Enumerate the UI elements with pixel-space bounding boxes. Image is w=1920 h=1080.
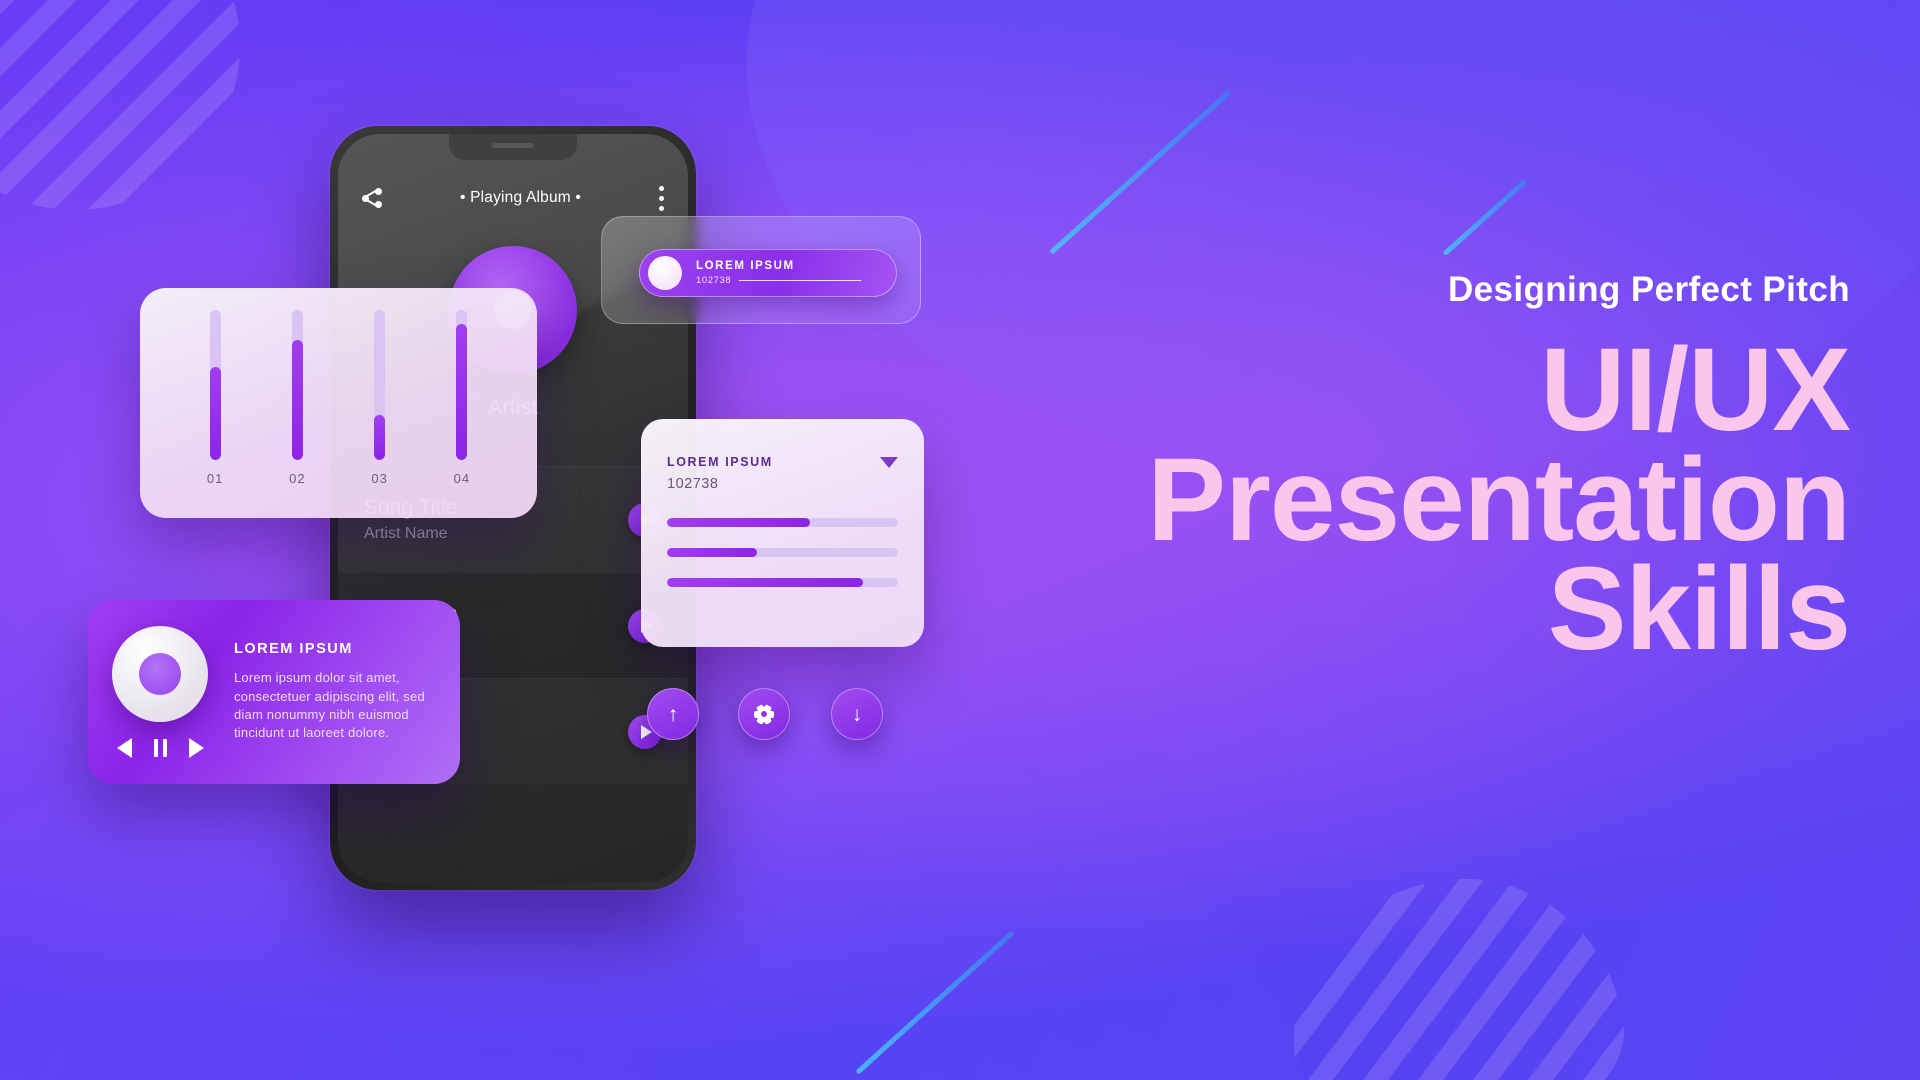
kebab-menu-icon[interactable] xyxy=(659,186,664,211)
info-card: LOREM IPSUM 102738 xyxy=(641,419,924,647)
upload-button[interactable]: ↑ xyxy=(647,688,699,740)
toggle-switch[interactable]: LOREM IPSUM 102738 xyxy=(639,249,897,297)
phone-notch xyxy=(449,134,577,160)
equalizer-channel-label: 04 xyxy=(454,471,470,486)
info-card-header: LOREM IPSUM xyxy=(667,455,898,469)
app-bar: • Playing Album • xyxy=(338,178,688,218)
headline-block: Designing Perfect Pitch UI/UX Presentati… xyxy=(950,270,1850,665)
equalizer-slider-fill xyxy=(210,367,221,460)
equalizer-slider[interactable] xyxy=(374,310,385,460)
equalizer-slider-fill xyxy=(374,415,385,460)
equalizer-channel[interactable]: 02 xyxy=(289,310,305,486)
info-card-bars xyxy=(667,518,898,587)
progress-bar[interactable] xyxy=(667,578,898,587)
equalizer-channel[interactable]: 03 xyxy=(371,310,387,486)
player-body: Lorem ipsum dolor sit amet, consectetuer… xyxy=(234,669,430,743)
toggle-text: LOREM IPSUM 102738 xyxy=(696,260,861,286)
toggle-subtitle: 102738 xyxy=(696,275,861,286)
equalizer-card: 01 02 03 04 xyxy=(140,288,537,518)
chevron-down-icon[interactable] xyxy=(880,457,898,468)
progress-bar[interactable] xyxy=(667,548,898,557)
headline-line-2: Presentation xyxy=(950,446,1850,556)
progress-bar[interactable] xyxy=(667,518,898,527)
info-card-title: LOREM IPSUM xyxy=(667,455,773,469)
equalizer-channel[interactable]: 04 xyxy=(454,310,470,486)
equalizer-slider-fill xyxy=(456,324,467,461)
settings-button[interactable] xyxy=(738,688,790,740)
arrow-down-icon: ↓ xyxy=(852,704,863,725)
song-artist: Artist Name xyxy=(364,525,457,543)
dial-knob-icon[interactable] xyxy=(112,626,208,722)
equalizer-slider[interactable] xyxy=(210,310,221,460)
headline-kicker: Designing Perfect Pitch xyxy=(950,270,1850,310)
player-text: LOREM IPSUM Lorem ipsum dolor sit amet, … xyxy=(234,641,430,743)
equalizer-channel-label: 03 xyxy=(371,471,387,486)
app-bar-title: • Playing Album • xyxy=(460,189,581,207)
transport-controls xyxy=(117,738,204,758)
toggle-number: 102738 xyxy=(696,275,731,286)
next-icon[interactable] xyxy=(189,738,204,758)
equalizer-channel-label: 02 xyxy=(289,471,305,486)
slide-canvas: • Playing Album • Artist Song Title Arti… xyxy=(0,0,1920,1080)
gear-icon xyxy=(754,704,774,724)
equalizer-slider[interactable] xyxy=(292,310,303,460)
toggle-knob-icon[interactable] xyxy=(648,256,682,290)
progress-bar-fill xyxy=(667,578,863,587)
player-controls-column xyxy=(112,626,208,758)
arrow-up-icon: ↑ xyxy=(668,704,679,725)
download-button[interactable]: ↓ xyxy=(831,688,883,740)
equalizer-channel-label: 01 xyxy=(207,471,223,486)
player-card: LOREM IPSUM Lorem ipsum dolor sit amet, … xyxy=(88,600,460,784)
info-card-number: 102738 xyxy=(667,476,898,492)
pause-icon[interactable] xyxy=(154,739,167,757)
progress-bar-fill xyxy=(667,518,810,527)
headline-line-1: UI/UX xyxy=(950,336,1850,446)
toggle-title: LOREM IPSUM xyxy=(696,260,861,272)
previous-icon[interactable] xyxy=(117,738,132,758)
toggle-progress-line xyxy=(739,280,861,282)
progress-bar-fill xyxy=(667,548,757,557)
headline-line-3: Skills xyxy=(950,555,1850,665)
player-title: LOREM IPSUM xyxy=(234,641,430,657)
equalizer-tracks: 01 02 03 04 xyxy=(174,314,503,486)
equalizer-channel[interactable]: 01 xyxy=(207,310,223,486)
share-icon[interactable] xyxy=(362,188,382,208)
equalizer-slider-fill xyxy=(292,340,303,460)
equalizer-slider[interactable] xyxy=(456,310,467,460)
